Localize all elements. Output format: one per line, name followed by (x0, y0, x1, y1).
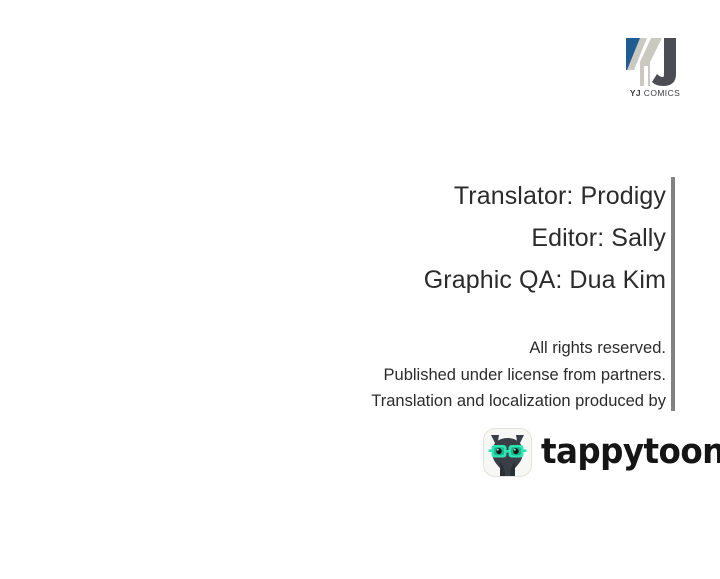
legal-line-rights: All rights reserved. (146, 335, 666, 362)
publisher-wordmark-secondary: COMICS (641, 88, 680, 98)
credits-page: YJ COMICS Translator: Prodigy Editor: Sa… (0, 0, 720, 579)
legal-block: All rights reserved. Published under lic… (146, 335, 666, 415)
publisher-wordmark: YJ COMICS (620, 88, 690, 98)
tappytoon-brand-lockup: tappytoon (483, 428, 720, 477)
tappytoon-cat-mascot-icon (483, 428, 532, 477)
legal-line-license: Published under license from partners. (146, 362, 666, 389)
vertical-divider-rule (671, 177, 675, 411)
credit-line-editor: Editor: Sally (246, 217, 666, 259)
credits-block: Translator: Prodigy Editor: Sally Graphi… (246, 175, 666, 301)
credit-line-graphic-qa: Graphic QA: Dua Kim (246, 259, 666, 301)
credit-line-translator: Translator: Prodigy (246, 175, 666, 217)
publisher-wordmark-primary: YJ (630, 88, 641, 98)
yj-monogram-icon (620, 36, 690, 88)
legal-line-localization: Translation and localization produced by (146, 388, 666, 415)
publisher-logo: YJ COMICS (620, 36, 690, 106)
tappytoon-wordmark: tappytoon (541, 435, 720, 470)
